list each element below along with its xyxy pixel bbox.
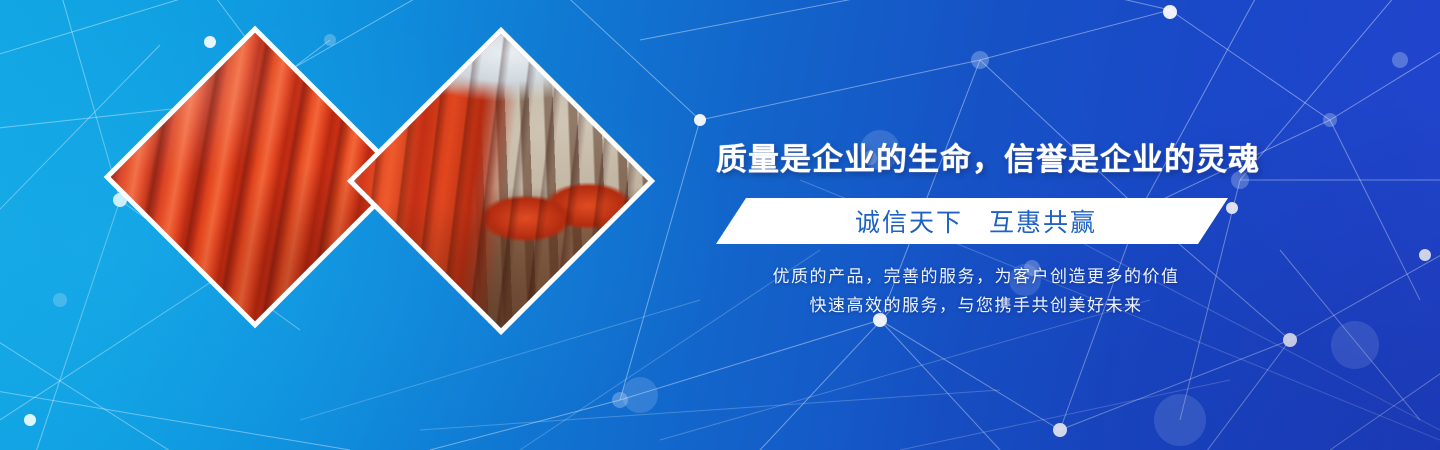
tagline-group: 优质的产品，完善的服务，为客户创造更多的价值 快速高效的服务，与您携手共创美好未… [716, 262, 1236, 320]
tagline-line-2: 快速高效的服务，与您携手共创美好未来 [716, 291, 1236, 320]
photo-red-drive-shafts-on-pallets [354, 34, 648, 328]
tagline-line-1: 优质的产品，完善的服务，为客户创造更多的价值 [716, 262, 1236, 291]
slogan-ribbon: 诚信天下互惠共赢 [716, 198, 1228, 244]
photo-frame-inner [354, 34, 648, 328]
promo-banner: 质量是企业的生命，信誉是企业的灵魂 诚信天下互惠共赢 优质的产品，完善的服务，为… [0, 0, 1440, 450]
slogan-ribbon-text: 诚信天下互惠共赢 [855, 203, 1097, 239]
product-photo-diamond-shafts [347, 27, 655, 335]
slogan-left: 诚信天下 [855, 209, 963, 237]
slogan-right: 互惠共赢 [989, 209, 1097, 237]
banner-headline: 质量是企业的生命，信誉是企业的灵魂 [716, 134, 1236, 179]
